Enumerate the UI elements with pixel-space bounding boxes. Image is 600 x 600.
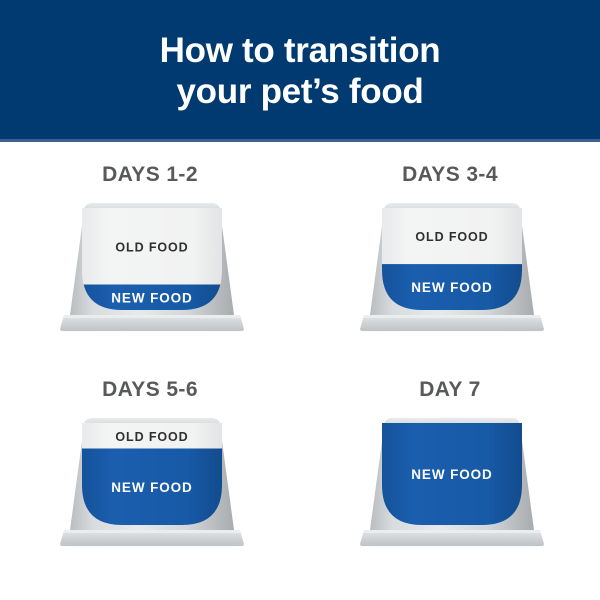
bowl-illustration-1: OLD FOOD NEW FOOD [338,197,566,337]
new-food-label-0: NEW FOOD [111,290,192,305]
bowl-illustration-3: NEW FOOD [338,412,566,552]
bowl-svg: NEW FOOD [338,412,566,552]
old-food-label-0: OLD FOOD [115,240,188,254]
bowl-base-highlight [363,315,541,318]
page-title: How to transition your pet’s food [160,31,441,112]
bowl-base-highlight [363,530,541,533]
bowl-card: DAYS 3-4 [300,139,600,354]
card-title-0: DAYS 1-2 [0,163,300,187]
bowl-illustration-2: OLD FOOD NEW FOOD [38,412,266,552]
bowl-svg: OLD FOOD NEW FOOD [338,197,566,337]
old-food-label-2: OLD FOOD [115,430,188,444]
infographic-page: How to transition your pet’s food DAYS 1… [0,0,600,600]
card-title-1: DAYS 3-4 [300,163,600,187]
bowl-svg: OLD FOOD NEW FOOD [38,412,266,552]
bowl-base-highlight [63,530,241,533]
new-food-label-3: NEW FOOD [411,467,492,482]
bowl-grid: DAYS 1-2 [0,139,600,600]
bowl-base-highlight [63,315,241,318]
card-title-3: DAY 7 [300,378,600,402]
bowl-card: DAYS 1-2 [0,139,300,354]
bowl-card: DAYS 5-6 [0,354,300,569]
header-banner: How to transition your pet’s food [0,0,600,139]
new-food-label-1: NEW FOOD [411,280,492,295]
bowl-illustration-0: OLD FOOD NEW FOOD [38,197,266,337]
bowl-card: DAY 7 [300,354,600,569]
card-title-2: DAYS 5-6 [0,378,300,402]
old-food-label-1: OLD FOOD [415,230,488,244]
new-food-label-2: NEW FOOD [111,480,192,495]
bowl-svg: OLD FOOD NEW FOOD [38,197,266,337]
